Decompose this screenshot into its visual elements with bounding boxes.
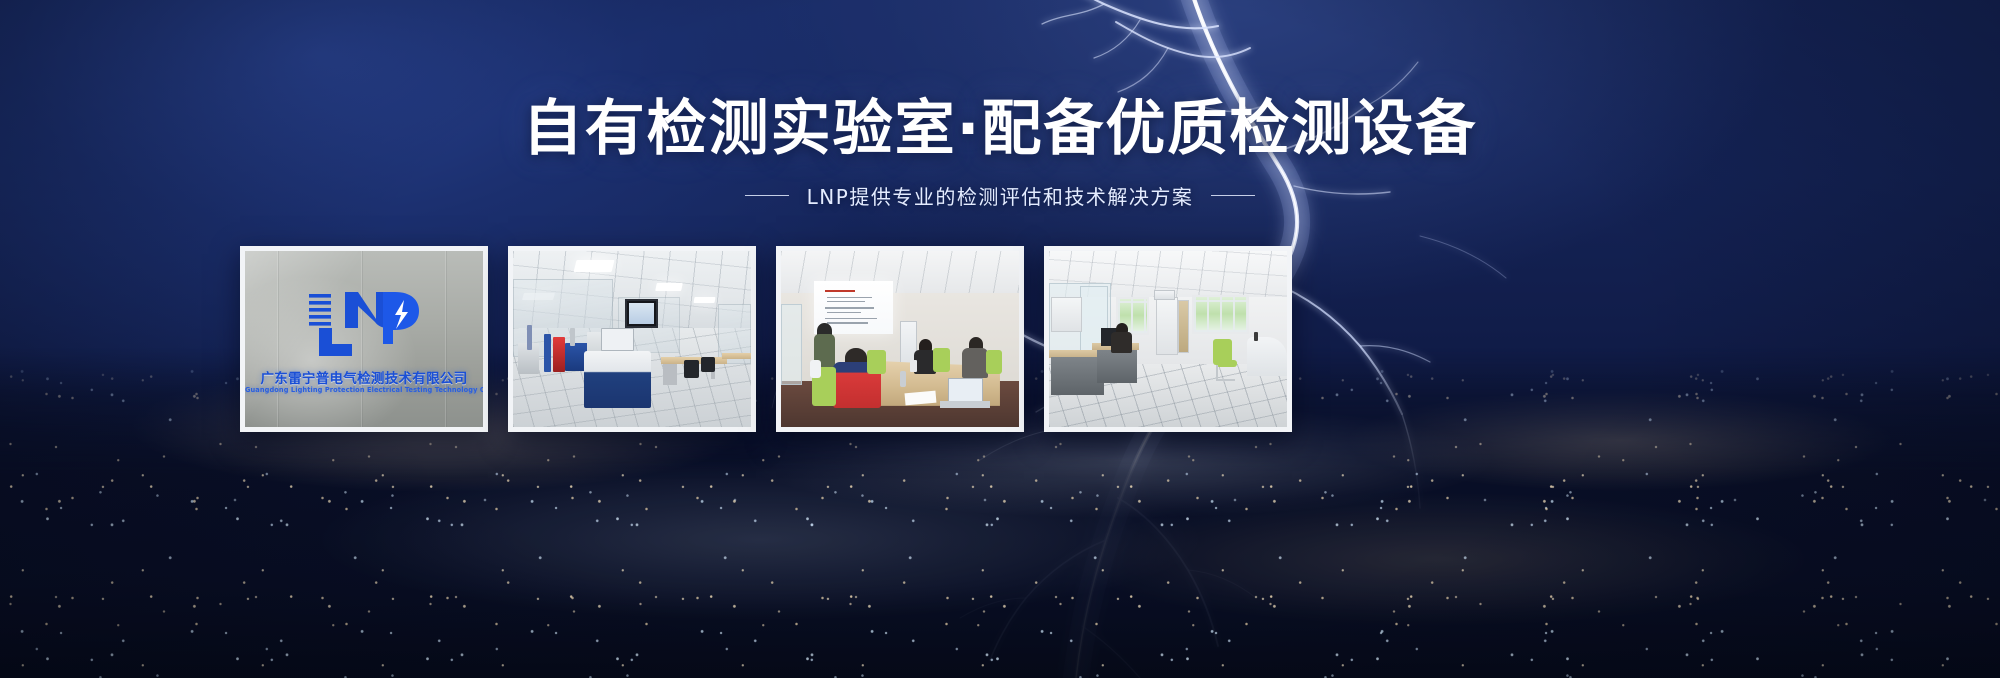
gallery-card-company-logo-sign[interactable]: 广东雷宁普电气检测技术有限公司 Guangdong Lighting Prote… bbox=[240, 246, 488, 432]
photo-frame bbox=[513, 251, 751, 427]
lab-scene bbox=[513, 251, 751, 427]
gallery-card-meeting-room-training[interactable] bbox=[776, 246, 1024, 432]
rule-right-icon bbox=[1211, 195, 1255, 196]
photo-frame: 广东雷宁普电气检测技术有限公司 Guangdong Lighting Prote… bbox=[245, 251, 483, 427]
meeting-room-scene bbox=[781, 251, 1019, 427]
lnp-logo-icon bbox=[305, 284, 423, 358]
page-subtitle: LNP提供专业的检测评估和技术解决方案 bbox=[807, 181, 1194, 210]
gallery-card-office-workspace[interactable] bbox=[1044, 246, 1292, 432]
office-scene bbox=[1049, 251, 1287, 427]
page-title: 自有检测实验室·配备优质检测设备 bbox=[0, 96, 2000, 163]
sign-company-name-en: Guangdong Lighting Protection Electrical… bbox=[245, 386, 483, 394]
headline-block: 自有检测实验室·配备优质检测设备 LNP提供专业的检测评估和技术解决方案 bbox=[0, 96, 2000, 210]
photo-frame bbox=[1049, 251, 1287, 427]
hero-banner: 自有检测实验室·配备优质检测设备 LNP提供专业的检测评估和技术解决方案 bbox=[0, 0, 2000, 678]
sign-company-name-cn: 广东雷宁普电气检测技术有限公司 bbox=[245, 367, 483, 387]
subtitle-row: LNP提供专业的检测评估和技术解决方案 bbox=[0, 181, 2000, 210]
gallery-card-high-voltage-lab[interactable] bbox=[508, 246, 756, 432]
rule-left-icon bbox=[745, 195, 789, 196]
photo-gallery: 广东雷宁普电气检测技术有限公司 Guangdong Lighting Prote… bbox=[240, 246, 1292, 432]
photo-frame bbox=[781, 251, 1019, 427]
